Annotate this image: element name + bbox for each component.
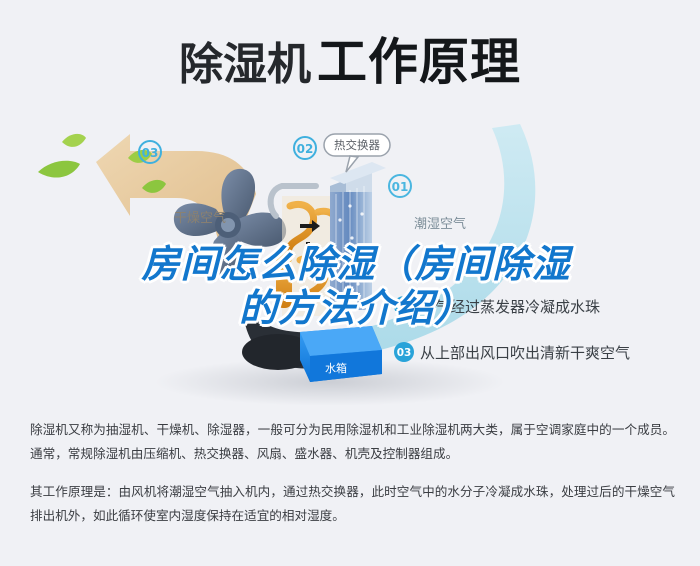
svg-text:02: 02 (297, 142, 314, 156)
badge-01-diagram: 01 (389, 175, 411, 197)
svg-text:03: 03 (397, 347, 412, 359)
title-part-two: 工作原理 (317, 34, 521, 90)
leaf-icon (62, 134, 86, 147)
dry-air-label: 干燥空气 (174, 210, 226, 226)
water-tank-label: 水箱 (325, 361, 347, 375)
badge-03-diagram: 03 (139, 141, 161, 163)
water-tank: 水箱 (300, 326, 382, 382)
overlay-line-2: 的方法介绍） (96, 287, 616, 331)
body-paragraph-1: 除湿机又称为抽湿机、干燥机、除湿器，一般可分为民用除湿机和工业除湿机两大类，属于… (30, 418, 675, 466)
article-body: 除湿机又称为抽湿机、干燥机、除湿器，一般可分为民用除湿机和工业除湿机两大类，属于… (30, 418, 675, 542)
page-root: 除湿机工作原理 (0, 0, 700, 566)
svg-text:03: 03 (142, 146, 159, 160)
heat-exchanger-label: 热交换器 (334, 138, 380, 152)
leaf-icon (38, 161, 80, 178)
svg-text:01: 01 (392, 180, 409, 194)
step-item-03: 03 从上部出风口吹出清新干爽空气 (394, 342, 630, 362)
step-03-text: 从上部出风口吹出清新干爽空气 (420, 344, 630, 362)
body-paragraph-2: 其工作原理是：由风机将潮湿空气抽入机内，通过热交换器，此时空气中的水分子冷凝成水… (30, 480, 675, 528)
badge-02-diagram: 02 (294, 137, 316, 159)
moist-air-label: 潮湿空气 (414, 216, 466, 232)
page-title: 除湿机工作原理 (0, 22, 700, 94)
overlay-line-1: 房间怎么除湿（房间除湿 (96, 243, 616, 287)
overlay-headline: 房间怎么除湿（房间除湿 的方法介绍） (96, 243, 616, 331)
title-part-one: 除湿机 (179, 40, 311, 89)
